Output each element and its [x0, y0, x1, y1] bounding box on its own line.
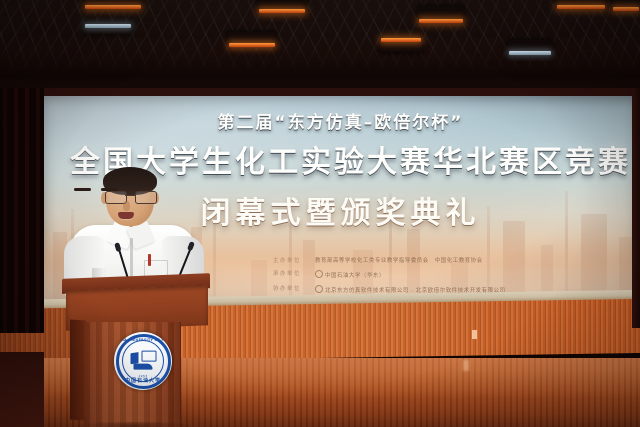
- glasses-bridge: [125, 195, 135, 196]
- stage-curtain-right: [632, 88, 640, 328]
- pen-icon: [148, 254, 151, 266]
- credit-label: 承办单位: [273, 272, 301, 278]
- stage-light: [508, 40, 552, 56]
- stage-light: [418, 6, 464, 24]
- company-logo-icon: [315, 285, 323, 293]
- emblem-glyph-highlight: [139, 352, 141, 364]
- ceiling: [0, 0, 640, 96]
- emblem-arc-text-top: CHINA UNIVERSITY OF PETROLEUM: [114, 338, 172, 342]
- credit-value: 中国石油大学（华东）: [325, 273, 385, 279]
- credit-row: 承办单位 中国石油大学（华东）: [273, 270, 633, 280]
- credit-row: 主办单位 教育部高等学校化工类专业教学指导委员会 中国化工教育协会: [273, 259, 633, 265]
- speaker-nose: [123, 201, 130, 211]
- stage-curtain-left: [0, 88, 44, 333]
- credit-value-group: 中国石油大学（华东）: [315, 270, 385, 280]
- emblem-arc-text-bottom: 中国石油大学: [114, 377, 172, 384]
- emblem-glyph-base: [134, 364, 153, 370]
- lens-right: [135, 191, 157, 204]
- stage-light: [612, 0, 640, 12]
- eyeglasses-icon: [104, 191, 156, 203]
- university-logo-icon: [315, 270, 323, 278]
- speaker-mouth: [118, 212, 134, 219]
- credit-value: 教育部高等学校化工类专业教学指导委员会 中国化工教育协会: [315, 259, 483, 265]
- emblem-glyph: [130, 351, 157, 371]
- stage-light: [84, 0, 142, 10]
- photo-scene: 第二届“东方仿真–欧倍尔杯” 全国大学生化工实验大赛华北赛区竞赛 闭幕式暨颁奖典…: [0, 0, 640, 427]
- stage-light: [228, 32, 276, 48]
- stage-light: [556, 0, 606, 10]
- panel-light-mark: [472, 330, 477, 339]
- floor-light-reflection: [463, 360, 469, 371]
- credit-label: 主办单位: [273, 259, 301, 265]
- podium-floor-shadow: [76, 422, 192, 427]
- stage-light: [380, 36, 422, 52]
- speaker-brow-left: [74, 188, 91, 191]
- university-emblem: CHINA UNIVERSITY OF PETROLEUM 1953 中国石油大…: [114, 332, 172, 390]
- slide-subtitle: 第二届“东方仿真–欧倍尔杯”: [41, 108, 640, 133]
- credit-label: 协办单位: [273, 287, 301, 293]
- stage-light: [84, 22, 132, 34]
- emblem-glyph-frame: [142, 351, 157, 362]
- floor-left-shadow: [0, 352, 44, 427]
- stage-light: [258, 0, 306, 14]
